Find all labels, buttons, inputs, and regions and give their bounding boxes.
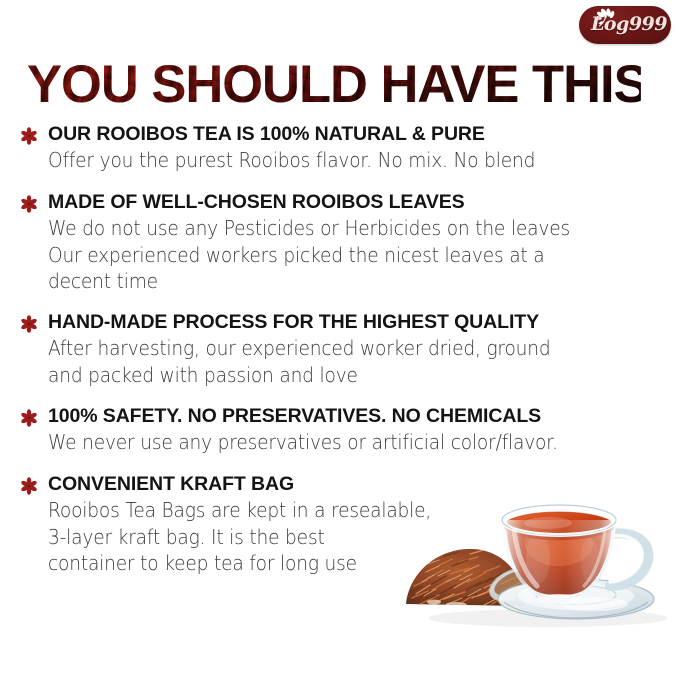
feature-item-natural-pure: OUR ROOIBOS TEA IS 100% NATURAL & PURE O… <box>0 124 679 172</box>
product-feature-poster: Log999 YOU SHOULD HAVE THIS! OUR ROOIBOS… <box>0 0 679 679</box>
feature-body: After harvesting, our experienced worker… <box>48 335 635 388</box>
brand-logo-inner: Log999 <box>579 6 671 44</box>
brand-logo-badge: Log999 <box>579 6 671 44</box>
feature-body: We do not use any Pesticides or Herbicid… <box>48 215 635 295</box>
page-title: YOU SHOULD HAVE THIS! <box>27 58 641 111</box>
feature-body: Offer you the purest Rooibos flavor. No … <box>48 147 635 174</box>
feature-item-hand-made-process: HAND-MADE PROCESS FOR THE HIGHEST QUALIT… <box>0 312 679 386</box>
feature-title: HAND-MADE PROCESS FOR THE HIGHEST QUALIT… <box>48 312 679 334</box>
feature-item-well-chosen-leaves: MADE OF WELL-CHOSEN ROOIBOS LEAVES We do… <box>0 192 679 292</box>
feature-title: MADE OF WELL-CHOSEN ROOIBOS LEAVES <box>48 192 679 214</box>
feature-item-safety-no-chemicals: 100% SAFETY. NO PRESERVATIVES. NO CHEMIC… <box>0 406 679 454</box>
feature-title: OUR ROOIBOS TEA IS 100% NATURAL & PURE <box>48 124 679 146</box>
feature-title: 100% SAFETY. NO PRESERVATIVES. NO CHEMIC… <box>48 406 679 428</box>
rooibos-tea-cup-photo <box>398 486 679 636</box>
feature-body: We never use any preservatives or artifi… <box>48 429 635 456</box>
brand-name: Log999 <box>591 15 665 34</box>
asterisk-flower-icon <box>20 315 38 333</box>
asterisk-flower-icon <box>20 195 38 213</box>
asterisk-flower-icon <box>20 409 38 427</box>
cup-handle <box>610 533 648 586</box>
asterisk-flower-icon <box>20 477 38 495</box>
asterisk-flower-icon <box>20 127 38 145</box>
